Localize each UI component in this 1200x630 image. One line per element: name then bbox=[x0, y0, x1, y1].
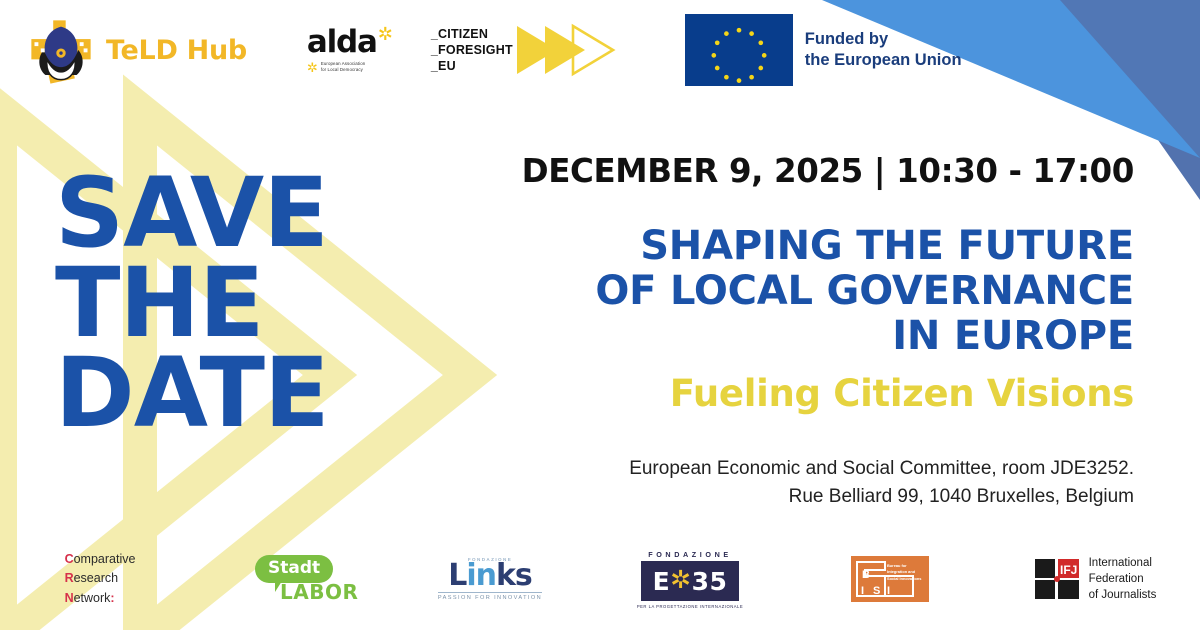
event-subtitle: Fueling Citizen Visions bbox=[474, 372, 1134, 415]
logo-fondazione-links[interactable]: FONDAZIONE Links PASSION FOR INNOVATION bbox=[390, 557, 590, 602]
bisi-tagline-line3: Social Innovations bbox=[887, 576, 921, 582]
headline-line-1: SAVE bbox=[55, 168, 329, 258]
crn-initial-r: R bbox=[65, 571, 74, 585]
svg-text:I: I bbox=[887, 585, 890, 597]
crn-word-research: esearch bbox=[74, 571, 118, 585]
links-wordmark: Links bbox=[438, 562, 542, 591]
logo-alda-tagline-line2: for Local Democracy bbox=[321, 67, 365, 73]
logo-cfe-line1: _CITIZEN bbox=[431, 26, 513, 42]
svg-text:B: B bbox=[862, 569, 870, 581]
teld-hub-illustration-icon bbox=[22, 10, 100, 90]
event-details: DECEMBER 9, 2025 | 10:30 - 17:00 SHAPING… bbox=[474, 152, 1134, 511]
ifj-line1: International bbox=[1089, 555, 1157, 571]
headline-line-2: THE bbox=[55, 258, 329, 348]
event-venue-line-2: Rue Belliard 99, 1040 Bruxelles, Belgium bbox=[474, 483, 1134, 511]
event-title: SHAPING THE FUTURE OF LOCAL GOVERNANCE I… bbox=[474, 224, 1134, 360]
star-icon: ✲ bbox=[378, 25, 393, 43]
e35-number-35: 35 bbox=[692, 567, 728, 596]
event-title-line-1: SHAPING THE FUTURE bbox=[474, 224, 1134, 269]
star-icon: ✲ bbox=[670, 565, 691, 594]
logo-cfe-line3: _EU bbox=[431, 58, 513, 74]
partner-logo-header: TeLD Hub alda ✲ ✲ European Association f… bbox=[0, 0, 1200, 100]
logo-stadtlabor[interactable]: Stadt LABOR bbox=[200, 553, 390, 605]
crn-word-network: etwork bbox=[74, 591, 111, 605]
e35-badge: E✲35 bbox=[641, 561, 740, 601]
ifj-mark-icon: IFJ bbox=[1034, 558, 1080, 600]
ifj-line3: of Journalists bbox=[1089, 587, 1157, 603]
save-the-date-headline: SAVE THE DATE bbox=[55, 168, 329, 439]
star-icon: ✲ bbox=[307, 61, 318, 74]
logo-bisi[interactable]: B I S I Bureau for Integration and Socia… bbox=[790, 556, 990, 602]
stadtlabor-word-label: LABOR bbox=[280, 580, 358, 604]
logo-fondazione-e35[interactable]: FONDAZIONE E✲35 PER LA PROGETTAZIONE INT… bbox=[590, 550, 790, 609]
svg-text:IFJ: IFJ bbox=[1060, 563, 1077, 577]
triple-chevron-arrow-icon bbox=[515, 22, 625, 78]
logo-alda-label: alda bbox=[307, 27, 377, 58]
logo-teld-hub[interactable]: TeLD Hub bbox=[22, 10, 247, 90]
logo-cfe-line2: _FORESIGHT bbox=[431, 42, 513, 58]
ifj-line2: Federation bbox=[1089, 571, 1157, 587]
crn-word-comparative: omparative bbox=[74, 552, 136, 566]
logo-eu-funding[interactable]: Funded by the European Union bbox=[685, 14, 962, 86]
crn-colon: : bbox=[110, 591, 114, 605]
stadtlabor-bubble-label: Stadt bbox=[255, 555, 333, 583]
links-letter-l: L bbox=[448, 558, 466, 593]
crn-initial-c: C bbox=[65, 552, 74, 566]
e35-tagline: PER LA PROGETTAZIONE INTERNAZIONALE bbox=[637, 604, 743, 609]
e35-top-label: FONDAZIONE bbox=[637, 550, 743, 559]
crn-initial-n: N bbox=[65, 591, 74, 605]
links-tagline: PASSION FOR INNOVATION bbox=[438, 595, 542, 601]
event-date-time: DECEMBER 9, 2025 | 10:30 - 17:00 bbox=[474, 152, 1134, 190]
logo-ifj[interactable]: IFJ International Federation of Journali… bbox=[990, 555, 1200, 604]
headline-line-3: DATE bbox=[55, 348, 329, 438]
logo-comparative-research-network[interactable]: Comparative Research Network: bbox=[0, 550, 200, 608]
event-venue: European Economic and Social Committee, … bbox=[474, 455, 1134, 511]
logo-alda[interactable]: alda ✲ ✲ European Association for Local … bbox=[307, 27, 393, 74]
svg-text:S: S bbox=[873, 585, 880, 597]
e35-letter-e: E bbox=[653, 567, 671, 596]
event-venue-line-1: European Economic and Social Committee, … bbox=[474, 455, 1134, 483]
logo-eu-funding-line1: Funded by bbox=[805, 29, 962, 50]
svg-text:I: I bbox=[861, 585, 864, 597]
european-union-flag-icon bbox=[685, 14, 793, 86]
event-title-line-3: IN EUROPE bbox=[474, 314, 1134, 359]
logo-eu-funding-line2: the European Union bbox=[805, 50, 962, 71]
save-the-date-poster: TeLD Hub alda ✲ ✲ European Association f… bbox=[0, 0, 1200, 630]
partner-logo-footer: Comparative Research Network: Stadt LABO… bbox=[0, 544, 1200, 614]
logo-teld-hub-label: TeLD Hub bbox=[106, 35, 247, 66]
links-letters-in: in bbox=[466, 558, 496, 593]
event-title-line-2: OF LOCAL GOVERNANCE bbox=[474, 269, 1134, 314]
links-letters-ks: ks bbox=[496, 558, 532, 593]
logo-citizen-foresight-eu[interactable]: _CITIZEN _FORESIGHT _EU bbox=[431, 22, 625, 78]
